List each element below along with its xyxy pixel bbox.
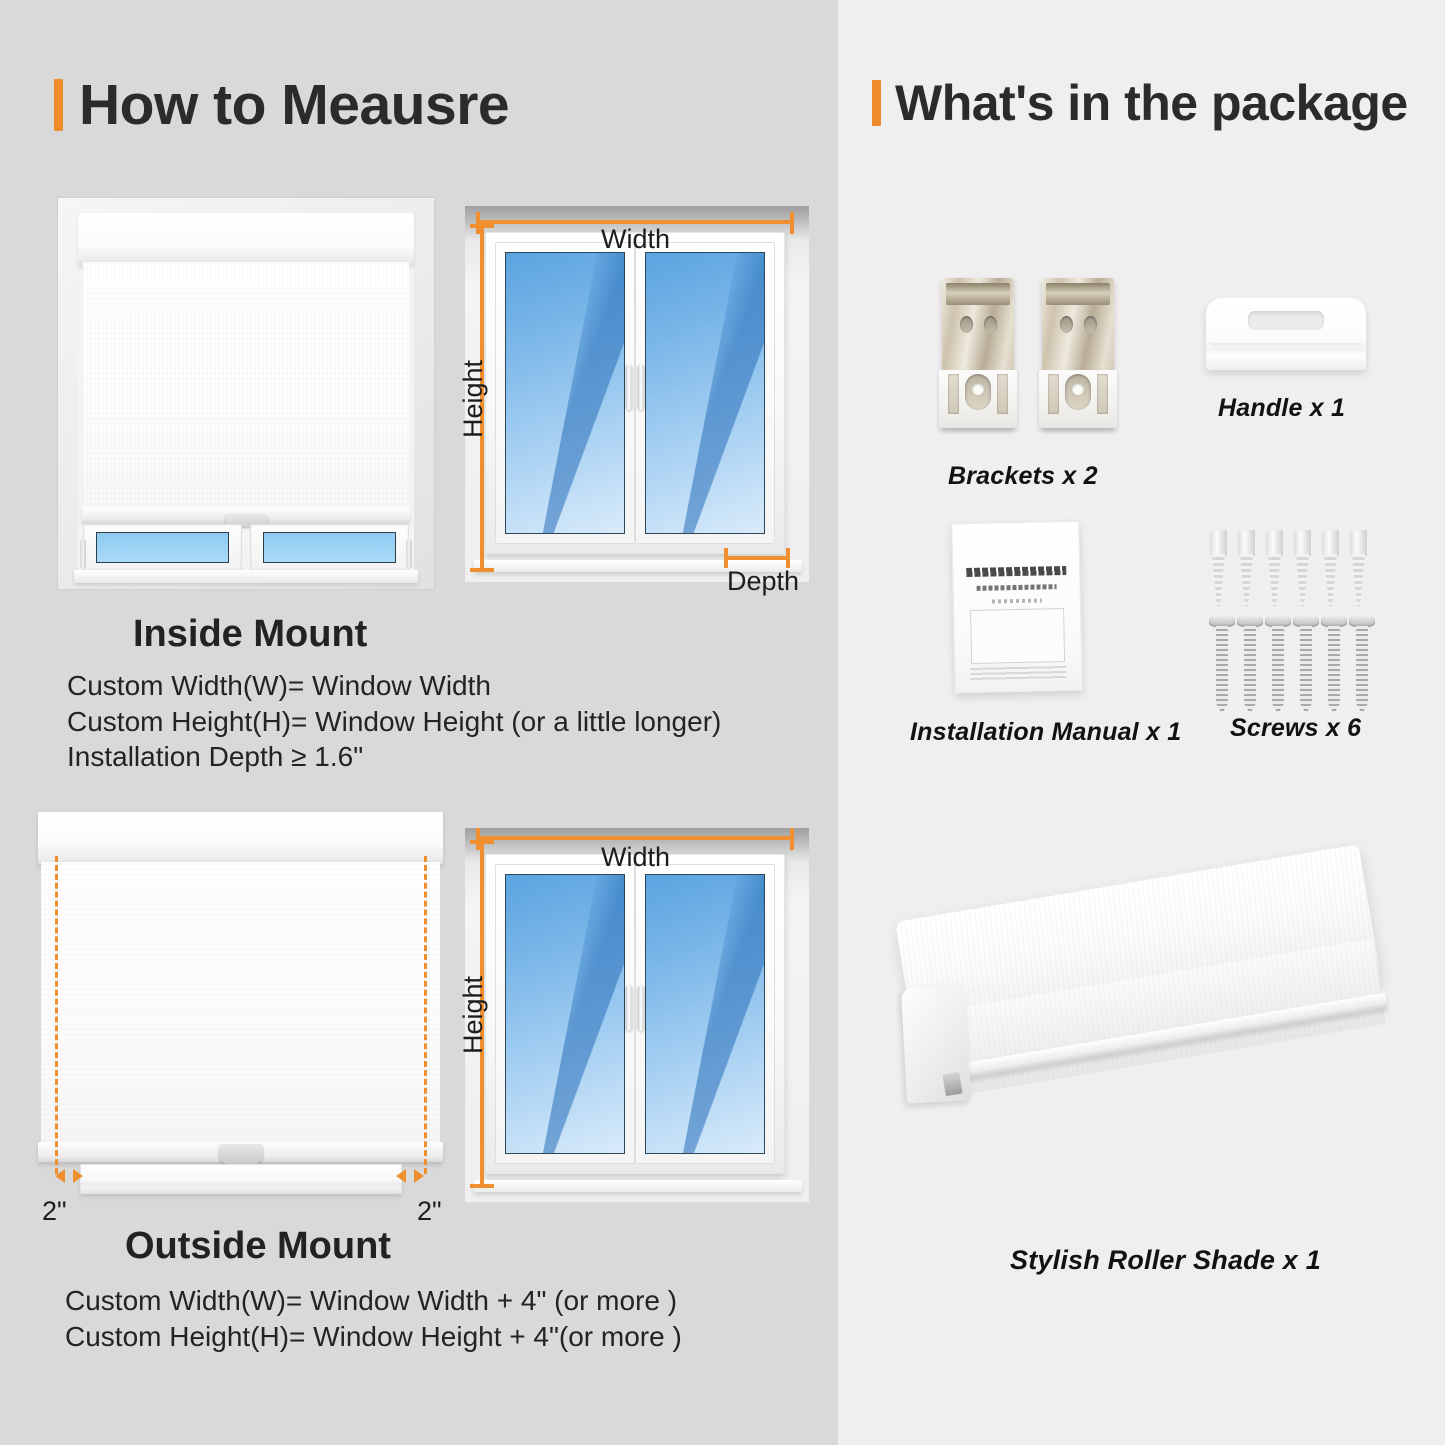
depth-dimension-line — [724, 556, 790, 560]
inside-mount-dimension-window: Width Height Depth — [450, 198, 820, 598]
installation-manual-part — [951, 521, 1083, 694]
left-heading-text: How to Meausre — [79, 72, 509, 138]
window-handles — [626, 985, 645, 1031]
overhang-label-left: 2" — [42, 1196, 67, 1227]
sash-glass-left — [96, 532, 229, 564]
dim-sash-right — [635, 242, 775, 544]
width-label: Width — [601, 842, 670, 873]
bracket-hole — [960, 316, 973, 333]
accent-bar-icon — [872, 80, 881, 126]
handle-grip-slot — [1248, 311, 1325, 330]
roller-shade-product — [896, 890, 1396, 1190]
how-to-measure-panel: How to Meausre — [0, 0, 838, 1445]
glass-glare — [677, 252, 765, 534]
shade-valance — [78, 213, 414, 266]
manual-scribble — [992, 598, 1042, 603]
handle-part — [1206, 298, 1366, 370]
window-sashes — [83, 524, 408, 571]
bracket-hole — [1060, 316, 1073, 333]
wall-anchor — [1266, 530, 1283, 606]
outside-pull-handle — [219, 1144, 263, 1164]
screw — [1298, 614, 1314, 714]
package-contents-panel: What's in the package Brackets x 2 — [838, 0, 1445, 1445]
window-handles — [626, 364, 645, 410]
screw — [1214, 614, 1230, 714]
anchor-head — [1294, 530, 1311, 556]
screw — [1354, 614, 1370, 714]
screw-shaft — [1216, 626, 1228, 714]
depth-label: Depth — [727, 566, 799, 597]
width-cap-right — [790, 828, 794, 850]
brackets-label: Brackets x 2 — [948, 462, 1098, 491]
height-label: Height — [458, 976, 489, 1054]
sash-glass-right — [263, 532, 396, 564]
dim-glass-left — [505, 874, 625, 1154]
screws-label: Screws x 6 — [1230, 714, 1361, 743]
glass-glare — [677, 874, 765, 1154]
wall-anchor — [1294, 530, 1311, 606]
depth-cap-left — [724, 548, 728, 568]
right-heading-text: What's in the package — [895, 74, 1408, 132]
anchor-head — [1350, 530, 1367, 556]
width-dimension-line — [476, 836, 794, 840]
outside-mount-line-2: Custom Height(H)= Window Height + 4"(or … — [65, 1319, 682, 1355]
anchor-head — [1238, 530, 1255, 556]
bracket-top-flange — [1046, 283, 1110, 305]
screw-head — [1321, 614, 1347, 627]
dim-sash-left — [495, 864, 635, 1164]
screw-head — [1209, 614, 1235, 627]
infographic-page: How to Meausre — [0, 0, 1445, 1445]
height-cap-top — [470, 224, 494, 228]
handle-seam — [1211, 343, 1361, 346]
inside-mount-shade-illustration — [57, 197, 435, 590]
anchor-body — [1352, 554, 1365, 606]
window-frame — [485, 232, 785, 554]
screw — [1242, 614, 1258, 714]
outside-mount-description: Custom Width(W)= Window Width + 4" (or m… — [65, 1283, 682, 1354]
bracket-slot-right — [997, 374, 1008, 414]
width-cap-right — [790, 212, 794, 234]
depth-cap-right — [786, 548, 790, 568]
manual-figure-box — [970, 608, 1064, 664]
window-sill — [74, 570, 418, 583]
shade-fabric — [83, 262, 408, 510]
window-handle-right — [406, 539, 412, 569]
window-frame — [485, 854, 785, 1174]
overhang-arrow-right — [396, 1174, 424, 1178]
dim-glass-right — [645, 252, 765, 534]
bracket-keyhole — [965, 374, 991, 410]
bracket-hole — [984, 316, 997, 333]
dim-glass-right — [645, 874, 765, 1154]
screw-shaft — [1328, 626, 1340, 714]
height-cap-top — [470, 840, 494, 844]
left-panel-heading: How to Meausre — [54, 72, 509, 138]
bracket-keyhole — [1065, 374, 1091, 410]
window-sash-left — [83, 524, 241, 571]
dim-glass-left — [505, 252, 625, 534]
anchor-body — [1268, 554, 1281, 606]
inside-mount-line-3: Installation Depth ≥ 1.6" — [67, 739, 721, 775]
screw — [1326, 614, 1342, 714]
anchor-body — [1324, 554, 1337, 606]
dim-sash-left — [495, 242, 635, 544]
outside-mount-title: Outside Mount — [125, 1225, 391, 1268]
bracket-slot-left — [1048, 374, 1059, 414]
bracket-hole — [1084, 316, 1097, 333]
anchor-body — [1296, 554, 1309, 606]
overhang-label-right: 2" — [417, 1196, 442, 1227]
anchor-head — [1266, 530, 1283, 556]
outside-mount-line-1: Custom Width(W)= Window Width + 4" (or m… — [65, 1283, 682, 1319]
glass-glare — [537, 874, 625, 1154]
outside-valance — [38, 812, 443, 864]
roller-shade-label: Stylish Roller Shade x 1 — [1010, 1245, 1321, 1276]
manual-subtitle-text — [976, 584, 1057, 591]
screw-head — [1293, 614, 1319, 627]
installation-manual-label: Installation Manual x 1 — [910, 718, 1181, 747]
bracket-top-flange — [946, 283, 1010, 305]
bracket-part-2 — [1042, 278, 1114, 428]
inside-mount-line-2: Custom Height(H)= Window Height (or a li… — [67, 704, 721, 740]
screw-head — [1237, 614, 1263, 627]
height-label: Height — [458, 360, 489, 438]
wall-anchor — [1322, 530, 1339, 606]
bracket-part-1 — [942, 278, 1014, 428]
outside-guide-left — [55, 856, 58, 1174]
inside-mount-line-1: Custom Width(W)= Window Width — [67, 668, 721, 704]
outside-mount-shade-illustration — [38, 812, 443, 1207]
anchor-head — [1210, 530, 1227, 556]
anchor-body — [1240, 554, 1253, 606]
anchor-head — [1322, 530, 1339, 556]
window-sash-right — [250, 524, 408, 571]
outside-guide-right — [424, 856, 427, 1174]
inside-mount-title: Inside Mount — [133, 613, 367, 656]
height-cap-bottom — [470, 1184, 494, 1188]
accent-bar-icon — [54, 79, 63, 131]
glass-glare — [537, 252, 625, 534]
right-panel-heading: What's in the package — [872, 74, 1408, 132]
width-label: Width — [601, 224, 670, 255]
screw-shaft — [1356, 626, 1368, 714]
window-handle-left — [80, 539, 86, 569]
handle-label: Handle x 1 — [1218, 394, 1345, 423]
wall-anchor — [1350, 530, 1367, 606]
window-sill — [474, 1180, 801, 1192]
dim-sash-right — [635, 864, 775, 1164]
wall-anchor — [1238, 530, 1255, 606]
height-cap-bottom — [470, 568, 494, 572]
manual-footer-text — [970, 664, 1066, 680]
screw-head — [1265, 614, 1291, 627]
screw-shaft — [1244, 626, 1256, 714]
screw-head — [1349, 614, 1375, 627]
outside-shade-fabric — [41, 862, 440, 1150]
overhang-arrow-left — [55, 1174, 83, 1178]
screw-shaft — [1272, 626, 1284, 714]
screw — [1270, 614, 1286, 714]
outside-mount-dimension-window: Width Height — [450, 820, 820, 1218]
manual-title-text — [966, 566, 1067, 577]
outside-sill-edge — [80, 1178, 400, 1185]
bracket-slot-right — [1097, 374, 1108, 414]
anchor-body — [1212, 554, 1225, 606]
bracket-slot-left — [948, 374, 959, 414]
inside-mount-description: Custom Width(W)= Window Width Custom Hei… — [67, 668, 721, 775]
screw-shaft — [1300, 626, 1312, 714]
roller-shade-rail-cap — [942, 1072, 962, 1097]
wall-anchor — [1210, 530, 1227, 606]
